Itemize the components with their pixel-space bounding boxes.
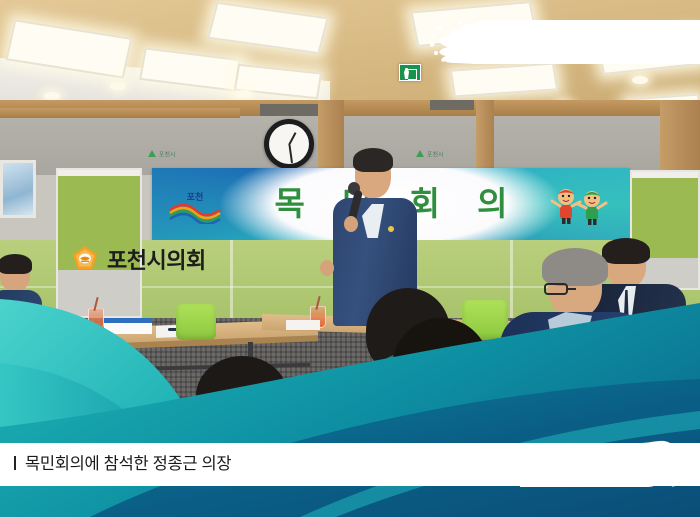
pocheon-council-emblem-icon	[72, 245, 98, 272]
header-title: 포천시의회	[107, 243, 206, 275]
header-bar: 포천시의회	[0, 0, 700, 517]
photo-card: 포천시 포천시 포천 목 민 회 의	[0, 0, 700, 517]
